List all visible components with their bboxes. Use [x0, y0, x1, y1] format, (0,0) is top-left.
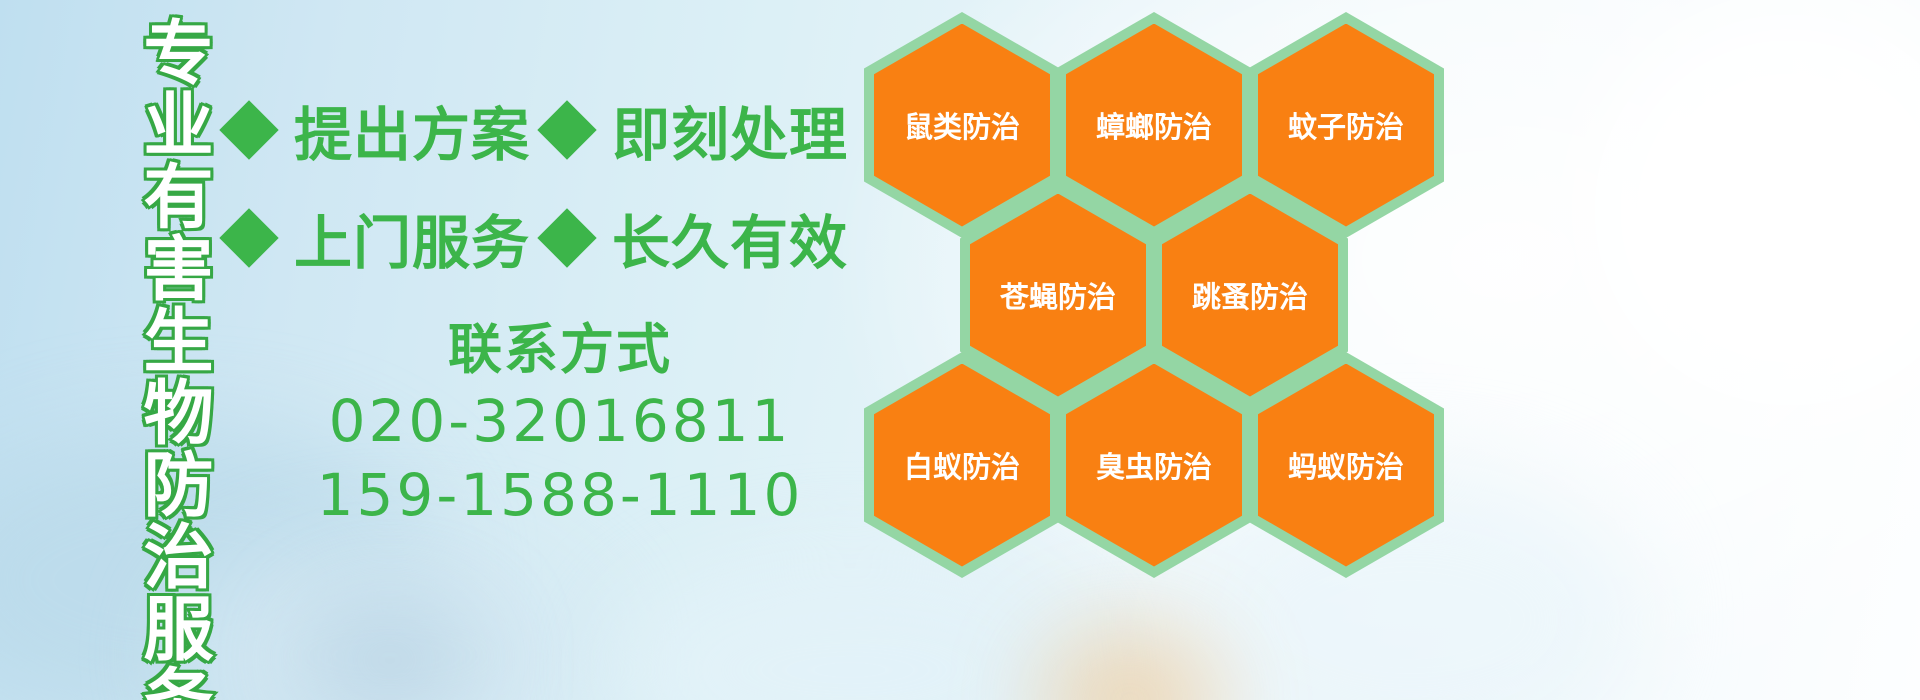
hex-inner: 蚊子防治: [1258, 24, 1434, 227]
feature-item: 上门服务: [228, 196, 546, 280]
contact-heading: 联系方式: [300, 316, 820, 384]
contact-block: 联系方式 020-32016811 159-1588-1110: [300, 316, 820, 532]
background-blob: [1580, 0, 1920, 420]
diamond-bullet-icon: [219, 208, 278, 267]
feature-item: 提出方案: [228, 88, 546, 172]
phone-number-landline[interactable]: 020-32016811: [300, 384, 820, 458]
background-blob: [1040, 630, 1220, 700]
hex-label: 苍蝇防治: [1000, 274, 1116, 316]
feature-label: 提出方案: [294, 88, 530, 172]
feature-label: 即刻处理: [612, 88, 848, 172]
background-blob: [300, 600, 480, 700]
vertical-headline: 专业有害生物防治服务: [104, 16, 208, 688]
hex-label: 蟑螂防治: [1096, 104, 1212, 146]
hex-inner: 蚂蚁防治: [1258, 364, 1434, 567]
background-blob: [180, 540, 600, 700]
hex-inner: 鼠类防治: [874, 24, 1050, 227]
phone-number-mobile[interactable]: 159-1588-1110: [300, 458, 820, 532]
hex-inner: 臭虫防治: [1066, 364, 1242, 567]
feature-list: 提出方案 即刻处理 上门服务 长久有效: [228, 76, 868, 292]
hex-inner: 蟑螂防治: [1066, 24, 1242, 227]
hex-label: 鼠类防治: [904, 104, 1020, 146]
hex-label: 臭虫防治: [1096, 444, 1212, 486]
feature-item: 即刻处理: [546, 88, 848, 172]
diamond-bullet-icon: [537, 100, 596, 159]
feature-label: 上门服务: [294, 196, 530, 280]
feature-row: 上门服务 长久有效: [228, 184, 868, 292]
hex-label: 蚊子防治: [1288, 104, 1404, 146]
hex-label: 蚂蚁防治: [1288, 444, 1404, 486]
background-blob: [620, 560, 1080, 700]
diamond-bullet-icon: [219, 100, 278, 159]
diamond-bullet-icon: [537, 208, 596, 267]
hex-inner: 苍蝇防治: [970, 194, 1146, 397]
hex-inner: 跳蚤防治: [1162, 194, 1338, 397]
hex-label: 白蚁防治: [904, 444, 1020, 486]
service-honeycomb: 鼠类防治 蟑螂防治 蚊子防治 苍蝇防治 跳蚤防治 白蚁防治: [856, 0, 1476, 560]
feature-row: 提出方案 即刻处理: [228, 76, 868, 184]
feature-item: 长久有效: [546, 196, 848, 280]
pest-control-banner: 专业有害生物防治服务 提出方案 即刻处理 上门服务 长久有效 联系方式: [0, 0, 1920, 700]
hex-inner: 白蚁防治: [874, 364, 1050, 567]
hex-label: 跳蚤防治: [1192, 274, 1308, 316]
feature-label: 长久有效: [612, 196, 848, 280]
